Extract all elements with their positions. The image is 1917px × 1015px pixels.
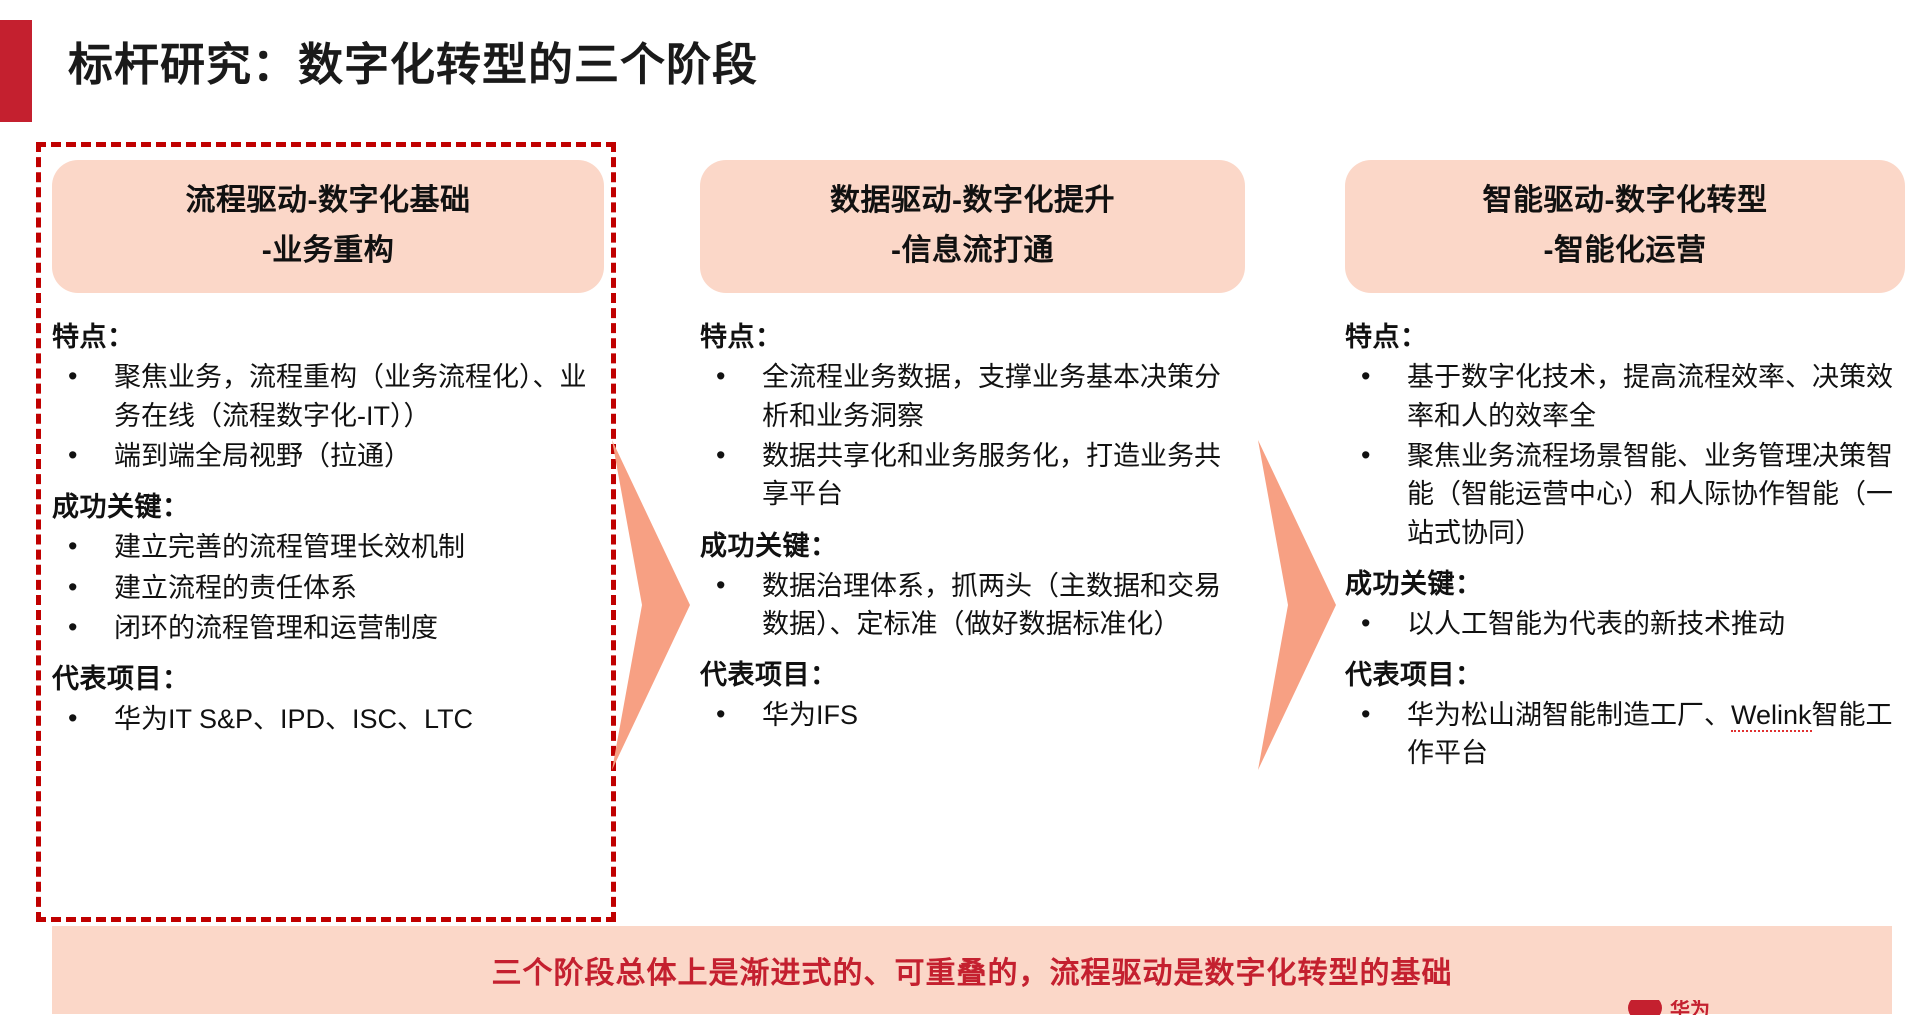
stage-3-section-label-features: 特点： — [1345, 315, 1905, 354]
stage-1-header: 流程驱动-数字化基础 -业务重构 — [52, 160, 604, 293]
list-item: 全流程业务数据，支撑业务基本决策分析和业务洞察 — [700, 358, 1245, 435]
stage-1-projects-list: 华为IT S&P、IPD、ISC、LTC — [52, 700, 604, 738]
stage-3-features-list: 基于数字化技术，提高流程效率、决策效率和人的效率全 聚焦业务流程场景智能、业务管… — [1345, 358, 1905, 552]
stage-1-section-label-projects: 代表项目： — [52, 657, 604, 696]
list-item: 华为IFS — [700, 696, 1245, 734]
stage-3-projects-list: 华为松山湖智能制造工厂、Welink智能工作平台 — [1345, 696, 1905, 773]
stage-3-header-line-1: 智能驱动-数字化转型 — [1363, 184, 1887, 218]
welink-token: Welink — [1731, 700, 1812, 732]
page-title: 标杆研究：数字化转型的三个阶段 — [68, 28, 758, 93]
stage-3-section-label-keys: 成功关键： — [1345, 562, 1905, 601]
arrow-stage1-to-stage2-icon — [612, 440, 690, 770]
stage-2-features-list: 全流程业务数据，支撑业务基本决策分析和业务洞察 数据共享化和业务服务化，打造业务… — [700, 358, 1245, 513]
list-item: 华为IT S&P、IPD、ISC、LTC — [52, 700, 604, 738]
list-item: 数据共享化和业务服务化，打造业务共享平台 — [700, 437, 1245, 514]
list-item: 闭环的流程管理和运营制度 — [52, 609, 604, 647]
stage-column-1: 流程驱动-数字化基础 -业务重构 特点： 聚焦业务，流程重构（业务流程化）、业务… — [52, 160, 604, 740]
logo-mark-icon — [1628, 1000, 1662, 1015]
list-item: 华为松山湖智能制造工厂、Welink智能工作平台 — [1345, 696, 1905, 773]
list-item: 建立完善的流程管理长效机制 — [52, 528, 604, 566]
stage-1-section-label-keys: 成功关键： — [52, 485, 604, 524]
list-item: 聚焦业务，流程重构（业务流程化）、业务在线（流程数字化-IT）） — [52, 358, 604, 435]
stage-1-section-label-features: 特点： — [52, 315, 604, 354]
list-item: 建立流程的责任体系 — [52, 569, 604, 607]
stage-3-header-line-2: -智能化运营 — [1363, 234, 1887, 268]
stage-2-header-line-2: -信息流打通 — [718, 234, 1227, 268]
stage-column-3: 智能驱动-数字化转型 -智能化运营 特点： 基于数字化技术，提高流程效率、决策效… — [1345, 160, 1905, 775]
title-accent-bar — [0, 20, 32, 122]
stage-1-header-line-1: 流程驱动-数字化基础 — [70, 184, 586, 218]
stage-2-section-label-projects: 代表项目： — [700, 653, 1245, 692]
stage-2-keys-list: 数据治理体系，抓两头（主数据和交易数据）、定标准（做好数据标准化） — [700, 567, 1245, 644]
footer-text: 三个阶段总体上是渐进式的、可重叠的，流程驱动是数字化转型的基础 — [492, 948, 1453, 992]
list-item: 以人工智能为代表的新技术推动 — [1345, 605, 1905, 643]
stage-1-features-list: 聚焦业务，流程重构（业务流程化）、业务在线（流程数字化-IT）） 端到端全局视野… — [52, 358, 604, 475]
stage-3-section-label-projects: 代表项目： — [1345, 653, 1905, 692]
stage-1-body: 特点： 聚焦业务，流程重构（业务流程化）、业务在线（流程数字化-IT）） 端到端… — [52, 315, 604, 738]
stage-3-keys-list: 以人工智能为代表的新技术推动 — [1345, 605, 1905, 643]
stage-2-section-label-keys: 成功关键： — [700, 524, 1245, 563]
stage-1-header-line-2: -业务重构 — [70, 234, 586, 268]
list-item: 基于数字化技术，提高流程效率、决策效率和人的效率全 — [1345, 358, 1905, 435]
arrow-stage2-to-stage3-icon — [1258, 440, 1336, 770]
slide-canvas: 标杆研究：数字化转型的三个阶段 流程驱动-数字化基础 -业务重构 特点： 聚焦业… — [0, 0, 1917, 1015]
footer-banner: 三个阶段总体上是渐进式的、可重叠的，流程驱动是数字化转型的基础 — [52, 926, 1892, 1014]
list-item: 数据治理体系，抓两头（主数据和交易数据）、定标准（做好数据标准化） — [700, 567, 1245, 644]
stage-3-body: 特点： 基于数字化技术，提高流程效率、决策效率和人的效率全 聚焦业务流程场景智能… — [1345, 315, 1905, 773]
list-item: 端到端全局视野（拉通） — [52, 437, 604, 475]
stage-2-section-label-features: 特点： — [700, 315, 1245, 354]
list-item: 聚焦业务流程场景智能、业务管理决策智能（智能运营中心）和人际协作智能（一站式协同… — [1345, 437, 1905, 552]
stage-2-projects-list: 华为IFS — [700, 696, 1245, 734]
stage-1-keys-list: 建立完善的流程管理长效机制 建立流程的责任体系 闭环的流程管理和运营制度 — [52, 528, 604, 647]
stage-2-body: 特点： 全流程业务数据，支撑业务基本决策分析和业务洞察 数据共享化和业务服务化，… — [700, 315, 1245, 734]
stage-2-header: 数据驱动-数字化提升 -信息流打通 — [700, 160, 1245, 293]
corner-logo: 华为 — [1628, 1000, 1828, 1015]
stage-3-header: 智能驱动-数字化转型 -智能化运营 — [1345, 160, 1905, 293]
stage-2-header-line-1: 数据驱动-数字化提升 — [718, 184, 1227, 218]
logo-wordmark: 华为 — [1670, 1000, 1710, 1015]
stage-column-2: 数据驱动-数字化提升 -信息流打通 特点： 全流程业务数据，支撑业务基本决策分析… — [700, 160, 1245, 736]
